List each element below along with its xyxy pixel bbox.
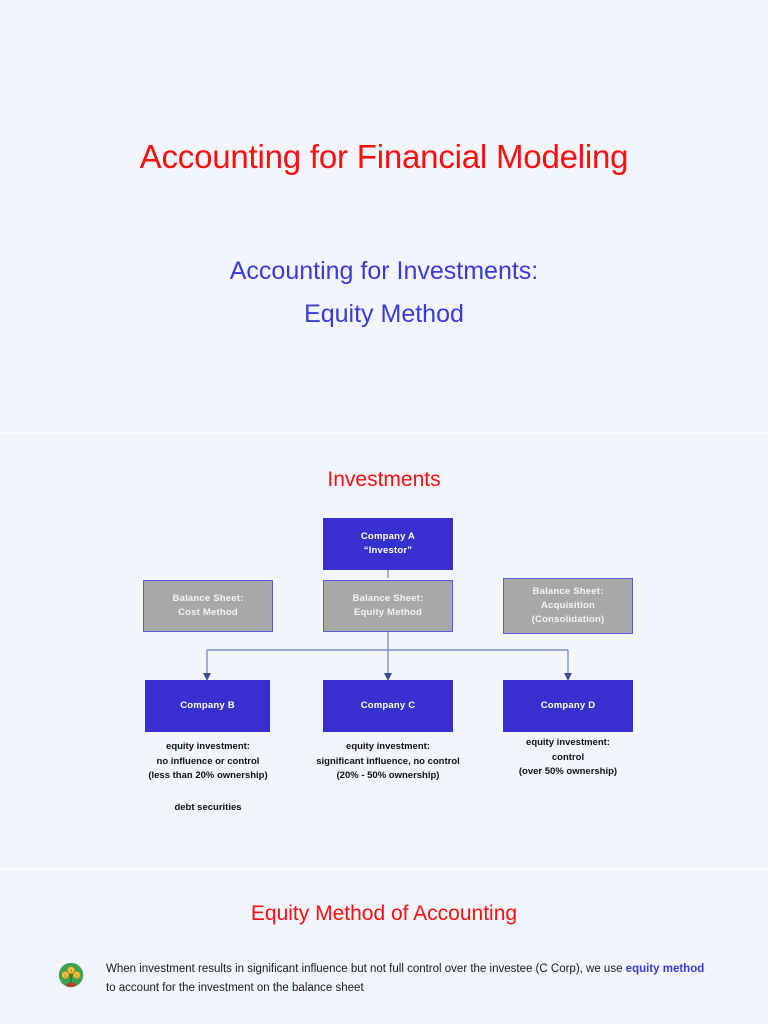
node-company-a-line1: Company A	[361, 530, 415, 544]
caption-company-c: equity investment: significant influence…	[293, 740, 483, 784]
caption-b-line3: (less than 20% ownership)	[123, 769, 293, 784]
subtitle-line-2: Equity Method	[0, 293, 768, 336]
caption-d-line1: equity investment:	[483, 736, 653, 751]
diagram-heading: Investments	[0, 468, 768, 492]
node-company-d-label: Company D	[541, 699, 596, 713]
page-subtitle: Accounting for Investments: Equity Metho…	[0, 250, 768, 336]
node-company-d[interactable]: Company D	[503, 680, 633, 732]
caption-b-extra: debt securities	[123, 801, 293, 816]
caption-c-line3: (20% - 50% ownership)	[293, 769, 483, 784]
connector-lines	[0, 434, 768, 868]
node-company-a[interactable]: Company A “Investor”	[323, 518, 453, 570]
node-bs-acq-line3: (Consolidation)	[532, 613, 605, 627]
node-bs-acq-line1: Balance Sheet:	[532, 585, 605, 599]
bullet-text: When investment results in significant i…	[106, 960, 708, 997]
node-bs-equity-line1: Balance Sheet:	[353, 592, 424, 606]
bullet-keyword: equity method	[626, 963, 705, 975]
title-slide: Accounting for Financial Modeling Accoun…	[0, 0, 768, 432]
node-bs-equity-line2: Equity Method	[353, 606, 424, 620]
node-bs-cost-line1: Balance Sheet:	[173, 592, 244, 606]
node-company-a-line2: “Investor”	[361, 544, 415, 558]
node-company-b[interactable]: Company B	[145, 680, 270, 732]
node-balance-sheet-acquisition[interactable]: Balance Sheet: Acquisition (Consolidatio…	[503, 578, 633, 634]
caption-b-line1: equity investment:	[123, 740, 293, 755]
caption-b-line2: no influence or control	[123, 755, 293, 770]
subtitle-line-1: Accounting for Investments:	[0, 250, 768, 293]
bottom-slide: Equity Method of Accounting $ $ $ When i…	[0, 870, 768, 1024]
diagram-slide: Investments Company A “Investor” Balance…	[0, 434, 768, 868]
caption-d-line2: control	[483, 751, 653, 766]
money-tree-icon: $ $ $	[58, 962, 84, 988]
node-company-b-label: Company B	[180, 699, 235, 713]
caption-c-line1: equity investment:	[293, 740, 483, 755]
bullet-text-part1: When investment results in significant i…	[106, 963, 626, 975]
node-company-c-label: Company C	[361, 699, 416, 713]
node-bs-acq-line2: Acquisition	[532, 599, 605, 613]
bullet-row: $ $ $ When investment results in signifi…	[58, 960, 708, 997]
node-company-c[interactable]: Company C	[323, 680, 453, 732]
caption-company-d: equity investment: control (over 50% own…	[483, 736, 653, 780]
bullet-text-part2: to account for the investment on the bal…	[106, 982, 364, 994]
node-balance-sheet-cost-method[interactable]: Balance Sheet: Cost Method	[143, 580, 273, 632]
node-balance-sheet-equity-method[interactable]: Balance Sheet: Equity Method	[323, 580, 453, 632]
caption-d-line3: (over 50% ownership)	[483, 765, 653, 780]
caption-company-b: equity investment: no influence or contr…	[123, 740, 293, 816]
page-title: Accounting for Financial Modeling	[0, 138, 768, 176]
caption-c-line2: significant influence, no control	[293, 755, 483, 770]
node-bs-cost-line2: Cost Method	[173, 606, 244, 620]
bottom-heading: Equity Method of Accounting	[0, 902, 768, 926]
